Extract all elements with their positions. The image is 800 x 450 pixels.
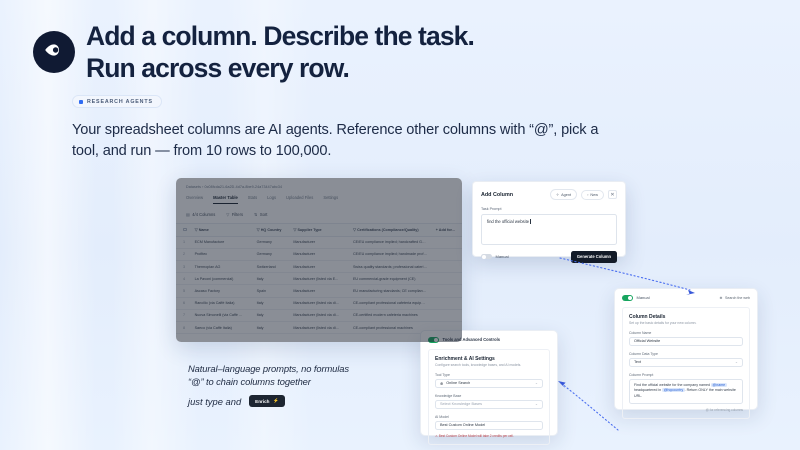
cell-cert: CE-certified modern cafeteria machines [349,309,432,321]
column-data-type-label: Column Data Type [629,352,743,356]
ai-model-value: Best Custom Online Model [440,423,485,427]
sort-button[interactable]: ⇅ Sort [254,212,267,217]
tool-type-label: Tool Type [435,373,543,377]
cell-country: Spain [253,285,290,297]
tab-uploaded-files[interactable]: Uploaded Files [286,195,313,204]
filters-label: Filters [232,212,243,217]
cell-name: Rancilio (via Caffè Italia) [191,297,253,309]
sort-label: Sort [260,212,268,217]
subheadline-line-1: Your spreadsheet columns are AI agents. … [72,120,752,141]
knowledge-base-select[interactable]: Select Knowledge Bases ⌄ [435,400,543,410]
app-screenshot-window: Datasets › 0c08fcda21-6a2D-4d7a-8be9-24a… [176,178,462,342]
tools-toggle-row[interactable]: Tools and Advanced Controls [428,337,550,343]
column-prompt-textarea[interactable]: Find the official website for the compan… [629,379,743,404]
table-row[interactable]: 6Rancilio (via Caffè Italia)ItalyManufac… [176,297,462,309]
table-row[interactable]: 5Ascaso FactorySpainManufacturerEU manuf… [176,285,462,297]
cell-country: Switzerland [253,261,290,273]
column-data-type-value: Text [634,360,641,364]
add-column-title: Add Column [481,192,513,198]
generate-column-button[interactable]: Generate Column [571,251,617,263]
column-header-supplier-type[interactable]: ▽ Supplier Type [289,223,349,236]
cell-cert: CE-compliant professional machines [349,322,432,334]
cell-cert: Swiss quality standards; professional ca… [349,261,432,273]
column-name-label: Column Name [629,331,743,335]
tool-type-value: Online Search [446,381,470,385]
cell-name: Saeco (via Caffè Italia) [191,322,253,334]
globe-icon: ⊕ [440,381,443,386]
prompt-text-part-1: Find the official website for the compan… [634,383,711,387]
headline-line-2: Run across every row. [86,52,474,84]
status-badge: RESEARCH AGENTS [72,95,162,108]
ai-model-label: AI Model [435,415,543,419]
table-toolbar: ▤ 4/4 Columns ▽ Filters ⇅ Sort [176,204,462,223]
cell-type: Manufacturer [289,261,349,273]
cell-name: Profitec [191,248,253,260]
column-data-type-select[interactable]: Text ⌄ [629,358,743,368]
subheadline: Your spreadsheet columns are AI agents. … [72,120,752,162]
cell-cert: CE-compliant professional cafeteria equi… [349,297,432,309]
cell-name: Thermoplan AG [191,261,253,273]
agent-button[interactable]: ✧ Agent [550,189,577,200]
add-column-header-button[interactable]: + Add for... [432,223,462,236]
cell-type: Manufacturer (listed via di... [289,297,349,309]
task-prompt-value: find the official website [487,219,529,224]
sparkle-icon: ✧ [556,192,559,197]
cell-cert: EU commercial-grade equipment (CE) [349,273,432,285]
table-row[interactable]: 4La Pavoni (commercial)ItalyManufacturer… [176,273,462,285]
ai-model-select[interactable]: Best Custom Online Model [435,421,543,431]
cell-type: Manufacturer (listed via E... [289,273,349,285]
table-row[interactable]: 2ProfitecGermanyManufacturerCE/EU compli… [176,248,462,260]
column-header-name[interactable]: ▽ Name [191,223,253,236]
add-column-panel: Add Column ✧ Agent ▫ New ✕ Task Prompt f… [472,181,626,257]
manual-toggle-label: Manual [496,254,509,259]
breadcrumb-separator: › [202,185,203,189]
cell-name: Nuova Simonelli (via Caffè ... [191,309,253,321]
cell-country: Italy [253,273,290,285]
subheadline-line-2: tool, and run — from 10 rows to 100,000. [72,141,752,162]
credits-note: ⚠ Best Custom Online Model will take 2 c… [435,434,543,438]
manual-toggle[interactable] [481,254,492,260]
cell-cert: CE/EU compliance implied; handmade profe… [349,248,432,260]
column-details-header: Manual ⊕ Search the web [622,295,750,301]
tab-logs[interactable]: Logs [267,195,276,204]
badge-label: RESEARCH AGENTS [87,99,153,105]
cell-name: La Pavoni (commercial) [191,273,253,285]
text-caret [530,219,531,224]
cell-type: Manufacturer (listed via di... [289,322,349,334]
manual-toggle-row[interactable]: Manual [481,254,509,260]
enrichment-subtitle: Configure search tools, knowledge bases,… [435,363,543,367]
chevron-down-icon: ⌄ [535,381,538,385]
columns-label: 4/4 Columns [192,212,215,217]
enrichment-title: Enrichment & AI Settings [435,356,543,362]
cell-country: Italy [253,309,290,321]
reference-columns-hint: @ for referencing columns [629,408,743,412]
column-name-input[interactable]: Official Website [629,337,743,347]
add-column-footer: Manual Generate Column [481,251,617,263]
enrichment-settings: Enrichment & AI Settings Configure searc… [428,349,550,446]
column-prompt-label: Column Prompt [629,373,743,377]
columns-button[interactable]: ▤ 4/4 Columns [186,212,215,217]
tab-stats[interactable]: Stats [248,195,257,204]
mention-hqcountry: @hqcountry [662,388,684,392]
column-header-certifications[interactable]: ▽ Certifications (Compliance/Quality) [349,223,432,236]
new-button[interactable]: ▫ New [581,190,604,200]
table-row[interactable]: 1ECM ManufactureGermanyManufacturerCE/EU… [176,236,462,248]
add-column-actions: ✧ Agent ▫ New ✕ [550,189,617,200]
caption-line-3: just type and [188,396,241,407]
mention-name: @name [711,383,727,387]
caption-block: Natural–language prompts, no formulas “@… [188,362,408,389]
knowledge-base-label: Knowledge Base [435,394,543,398]
eye-lens-logo-icon [42,38,66,67]
cell-name: Ascaso Factory [191,285,253,297]
caption-cta-row: just type and Enrich ⚡ [188,395,285,407]
tools-toggle-label: Tools and Advanced Controls [443,337,501,342]
breadcrumb-id: 0c08fcda21-6a2D-4d7a-8be9-24a73447abc34 [205,185,283,189]
enrich-label: Enrich [255,399,269,404]
square-dot-icon [79,100,83,104]
cell-cert: CE/EU compliance implied; handcrafted Ge… [349,236,432,248]
manual-toggle-label: Manual [637,295,650,300]
select-all-checkbox[interactable] [176,223,191,236]
knowledge-base-placeholder: Select Knowledge Bases [440,402,482,406]
cell-country: Germany [253,248,290,260]
cell-country: Italy [253,297,290,309]
tab-overview[interactable]: Overview [186,195,203,204]
filters-button[interactable]: ▽ Filters [226,212,243,217]
cell-type: Manufacturer [289,285,349,297]
manual-toggle[interactable] [622,295,633,301]
column-details-panel: Manual ⊕ Search the web Column Details S… [614,288,758,410]
manual-toggle-row[interactable]: Manual [622,295,650,301]
filter-icon: ▽ [226,212,229,217]
column-details-body: Column Details Set up the basic details … [622,307,750,419]
tool-type-select[interactable]: ⊕Online Search ⌄ [435,379,543,389]
brand-logo [33,31,75,73]
task-prompt-label: Task Prompt [481,207,617,211]
cell-name: ECM Manufacture [191,236,253,248]
cell-cert: EU manufacturing standards; CE complianc… [349,285,432,297]
caption-line-2: “@” to chain columns together [188,375,408,388]
tools-toggle[interactable] [428,337,439,343]
sort-icon: ⇅ [254,212,257,217]
column-header-hq-country[interactable]: ▽ HQ Country [253,223,290,236]
table-row[interactable]: 8Saeco (via Caffè Italia)ItalyManufactur… [176,322,462,334]
column-name-value: Official Website [634,339,660,343]
column-details-subtitle: Set up the basic details for your new co… [629,321,743,325]
globe-icon: ⊕ [720,296,723,300]
lightning-icon: ⚡ [273,398,279,404]
master-table: ▽ Name ▽ HQ Country ▽ Supplier Type ▽ Ce… [176,223,462,335]
columns-icon: ▤ [186,212,190,217]
cell-country: Germany [253,236,290,248]
cell-type: Manufacturer [289,248,349,260]
breadcrumb: Datasets › 0c08fcda21-6a2D-4d7a-8be9-24a… [176,178,462,189]
cell-type: Manufacturer [289,236,349,248]
plus-square-icon: ▫ [587,193,588,197]
search-the-web-button[interactable]: ⊕ Search the web [720,296,751,300]
add-column-header: Add Column ✧ Agent ▫ New ✕ [481,189,617,200]
chevron-down-icon: ⌄ [535,402,538,406]
page-title: Add a column. Describe the task. Run acr… [86,20,474,85]
close-icon[interactable]: ✕ [608,190,617,199]
caption-line-1: Natural–language prompts, no formulas [188,362,408,375]
task-prompt-input[interactable]: find the official website [481,214,617,245]
table-row[interactable]: 7Nuova Simonelli (via Caffè ...ItalyManu… [176,309,462,321]
tab-settings[interactable]: Settings [323,195,338,204]
enrich-button[interactable]: Enrich ⚡ [249,395,285,407]
headline-line-1: Add a column. Describe the task. [86,20,474,52]
cell-type: Manufacturer (listed via di... [289,309,349,321]
app-tabs: Overview Master Table Stats Logs Uploade… [176,189,462,204]
table-header-row: ▽ Name ▽ HQ Country ▽ Supplier Type ▽ Ce… [176,223,462,236]
cell-country: Italy [253,322,290,334]
breadcrumb-root[interactable]: Datasets [186,185,201,189]
chevron-down-icon: ⌄ [735,360,738,364]
prompt-text-part-2: headquartered in [634,388,662,392]
table-row[interactable]: 3Thermoplan AGSwitzerlandManufacturerSwi… [176,261,462,273]
column-details-title: Column Details [629,314,743,320]
table-body: 1ECM ManufactureGermanyManufacturerCE/EU… [176,236,462,334]
tab-master-table[interactable]: Master Table [213,195,238,204]
tools-advanced-panel: Tools and Advanced Controls Enrichment &… [420,330,558,436]
search-the-web-label: Search the web [725,296,750,300]
